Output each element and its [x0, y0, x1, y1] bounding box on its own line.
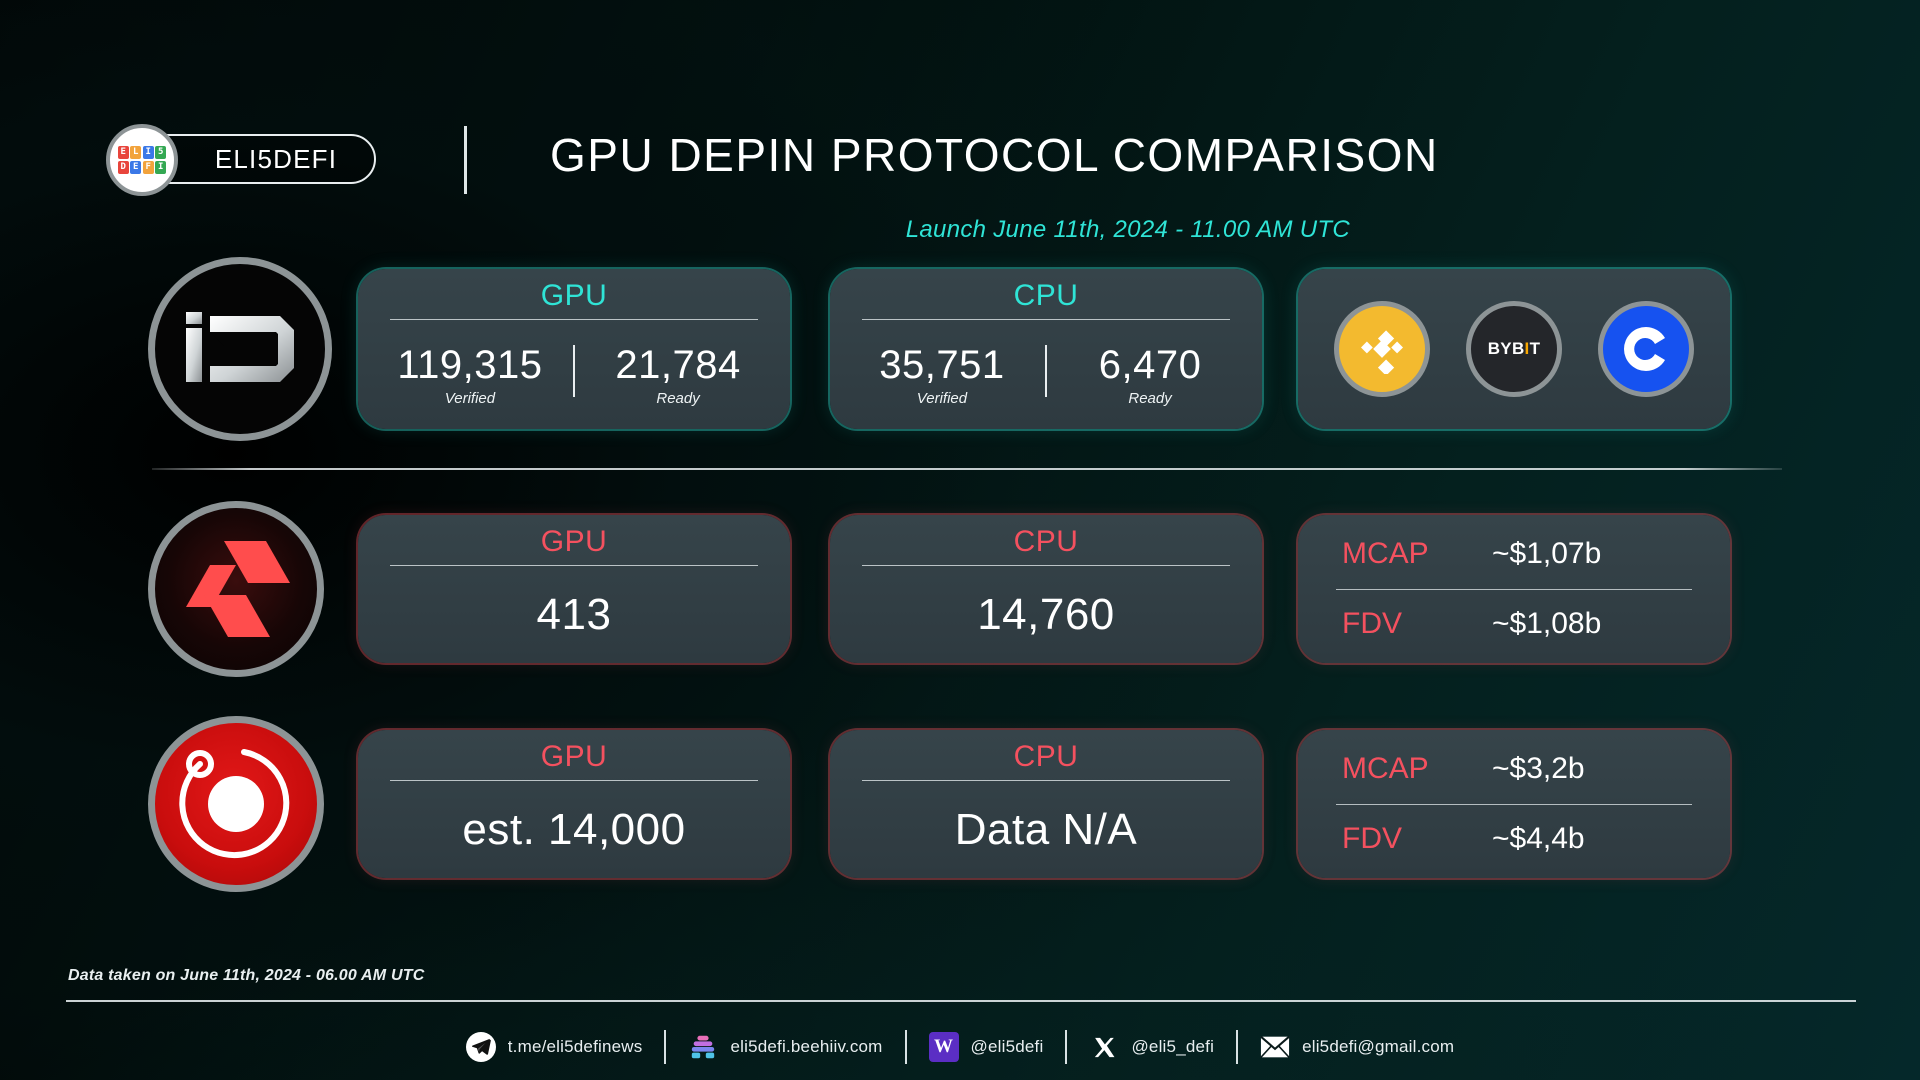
metric-label: Ready — [583, 390, 773, 407]
cpu-card: CPU Data N/A — [830, 730, 1262, 878]
card-title: GPU — [358, 515, 790, 565]
value-column: 6,470 Ready — [1055, 343, 1245, 407]
card-body: 119,315 Verified 21,784 Ready — [358, 320, 790, 429]
logo-row: D E F I — [118, 161, 167, 174]
metric-value: ~$4,4b — [1492, 822, 1585, 856]
protocol-row: GPU 413 CPU 14,760 MCAP ~$1,07b FDV — [0, 503, 1920, 675]
value-pair: 35,751 Verified 6,470 Ready — [830, 343, 1262, 407]
logo-tile: F — [143, 161, 154, 174]
footer-link-x[interactable]: @eli5_defi — [1067, 1032, 1236, 1062]
gpu-card: GPU 413 — [358, 515, 790, 663]
footer-link-label: eli5defi@gmail.com — [1302, 1037, 1454, 1057]
metric-value: 119,315 — [375, 343, 565, 388]
metric-key: MCAP — [1342, 752, 1492, 786]
metric-row: FDV ~$4,4b — [1298, 805, 1730, 875]
launch-note: Launch June 11th, 2024 - 11.00 AM UTC — [906, 216, 1350, 244]
value-column: 35,751 Verified — [847, 343, 1037, 407]
exchanges-card: BYBIT — [1298, 269, 1730, 429]
value-column: 119,315 Verified — [375, 343, 565, 407]
exchange-list: BYBIT — [1298, 269, 1730, 429]
header: ELI5DEFI E L I 5 D E F I GPU DEPIN PROTO… — [0, 58, 1920, 148]
metric-value: 6,470 — [1055, 343, 1245, 388]
beehiiv-icon — [688, 1032, 718, 1062]
akash-mark — [180, 539, 292, 639]
card-body: 35,751 Verified 6,470 Ready — [830, 320, 1262, 429]
brand-name: ELI5DEFI — [177, 144, 337, 175]
card-title: GPU — [358, 269, 790, 319]
metric-value: 21,784 — [583, 343, 773, 388]
metrics-list: MCAP ~$3,2b FDV ~$4,4b — [1298, 730, 1730, 878]
metric-key: FDV — [1342, 607, 1492, 641]
footer-link-label: t.me/eli5definews — [508, 1037, 643, 1057]
value-column: 21,784 Ready — [583, 343, 773, 407]
logo-tile: I — [155, 161, 166, 174]
card-body: Data N/A — [830, 781, 1262, 878]
footer-link-label: eli5defi.beehiiv.com — [730, 1037, 882, 1057]
footer-link-warpcast[interactable]: W @eli5defi — [907, 1032, 1066, 1062]
coinbase-logo-icon — [1598, 301, 1694, 397]
bybit-logo-icon: BYBIT — [1466, 301, 1562, 397]
metric-value: est. 14,000 — [462, 805, 685, 855]
gpu-card: GPU est. 14,000 — [358, 730, 790, 878]
card-title: CPU — [830, 730, 1262, 780]
logo-row: E L I 5 — [118, 146, 167, 159]
footer-link-beehiiv[interactable]: eli5defi.beehiiv.com — [666, 1032, 904, 1062]
card-body: 413 — [358, 566, 790, 663]
coinbase-mark — [1619, 322, 1673, 376]
footer-divider — [66, 1000, 1856, 1002]
footer-link-email[interactable]: eli5defi@gmail.com — [1238, 1032, 1476, 1062]
page-title: GPU DEPIN PROTOCOL COMPARISON — [550, 128, 1439, 182]
infographic-page: ELI5DEFI E L I 5 D E F I GPU DEPIN PROTO… — [0, 0, 1920, 1080]
metric-label: Verified — [375, 390, 565, 407]
metric-key: MCAP — [1342, 537, 1492, 571]
card-body: est. 14,000 — [358, 781, 790, 878]
render-logo-icon — [148, 716, 324, 892]
logo-tile: L — [130, 146, 141, 159]
logo-tile: I — [143, 146, 154, 159]
render-mark — [170, 738, 302, 870]
metric-label: Ready — [1055, 390, 1245, 407]
section-divider — [152, 468, 1782, 470]
metric-value: Data N/A — [955, 805, 1138, 855]
metric-row: FDV ~$1,08b — [1298, 590, 1730, 660]
value-separator — [1045, 345, 1047, 397]
logo-tile: E — [118, 146, 129, 159]
ionet-mark — [184, 310, 296, 388]
header-divider — [464, 126, 467, 194]
market-metrics-card: MCAP ~$1,07b FDV ~$1,08b — [1298, 515, 1730, 663]
metric-value: ~$1,07b — [1492, 537, 1601, 571]
logo-tile: D — [118, 161, 129, 174]
footer-link-telegram[interactable]: t.me/eli5definews — [444, 1032, 665, 1062]
binance-mark — [1357, 324, 1407, 374]
cpu-card: CPU 35,751 Verified 6,470 Ready — [830, 269, 1262, 429]
email-icon — [1260, 1032, 1290, 1062]
akash-logo-icon — [148, 501, 324, 677]
ionet-logo-icon — [148, 257, 332, 441]
x-twitter-icon — [1089, 1032, 1119, 1062]
warpcast-icon: W — [929, 1032, 959, 1062]
metric-value: 14,760 — [977, 590, 1115, 640]
bybit-wordmark: BYBIT — [1488, 339, 1541, 359]
metric-row: MCAP ~$3,2b — [1298, 734, 1730, 804]
card-title: CPU — [830, 515, 1262, 565]
cpu-card: CPU 14,760 — [830, 515, 1262, 663]
footer-link-label: @eli5_defi — [1131, 1037, 1214, 1057]
logo-tile: 5 — [155, 146, 166, 159]
metric-label: Verified — [847, 390, 1037, 407]
logo-tile: E — [130, 161, 141, 174]
metric-value: ~$3,2b — [1492, 752, 1585, 786]
metric-key: FDV — [1342, 822, 1492, 856]
metrics-list: MCAP ~$1,07b FDV ~$1,08b — [1298, 515, 1730, 663]
card-body: 14,760 — [830, 566, 1262, 663]
telegram-icon — [466, 1032, 496, 1062]
metric-row: MCAP ~$1,07b — [1298, 519, 1730, 589]
eli5defi-logo-icon: E L I 5 D E F I — [106, 124, 178, 196]
footer-links: t.me/eli5definews eli5defi.beehiiv.com W… — [0, 1014, 1920, 1080]
card-title: GPU — [358, 730, 790, 780]
gpu-card: GPU 119,315 Verified 21,784 Ready — [358, 269, 790, 429]
metric-value: ~$1,08b — [1492, 607, 1601, 641]
metric-value: 35,751 — [847, 343, 1037, 388]
card-title: CPU — [830, 269, 1262, 319]
value-separator — [573, 345, 575, 397]
market-metrics-card: MCAP ~$3,2b FDV ~$4,4b — [1298, 730, 1730, 878]
protocol-row: GPU est. 14,000 CPU Data N/A MCAP ~$3,2b — [0, 718, 1920, 890]
value-pair: 119,315 Verified 21,784 Ready — [358, 343, 790, 407]
binance-logo-icon — [1334, 301, 1430, 397]
metric-value: 413 — [537, 590, 612, 640]
data-timestamp-note: Data taken on June 11th, 2024 - 06.00 AM… — [68, 967, 424, 985]
protocol-row: GPU 119,315 Verified 21,784 Ready CPU — [0, 258, 1920, 440]
footer-link-label: @eli5defi — [971, 1037, 1044, 1057]
